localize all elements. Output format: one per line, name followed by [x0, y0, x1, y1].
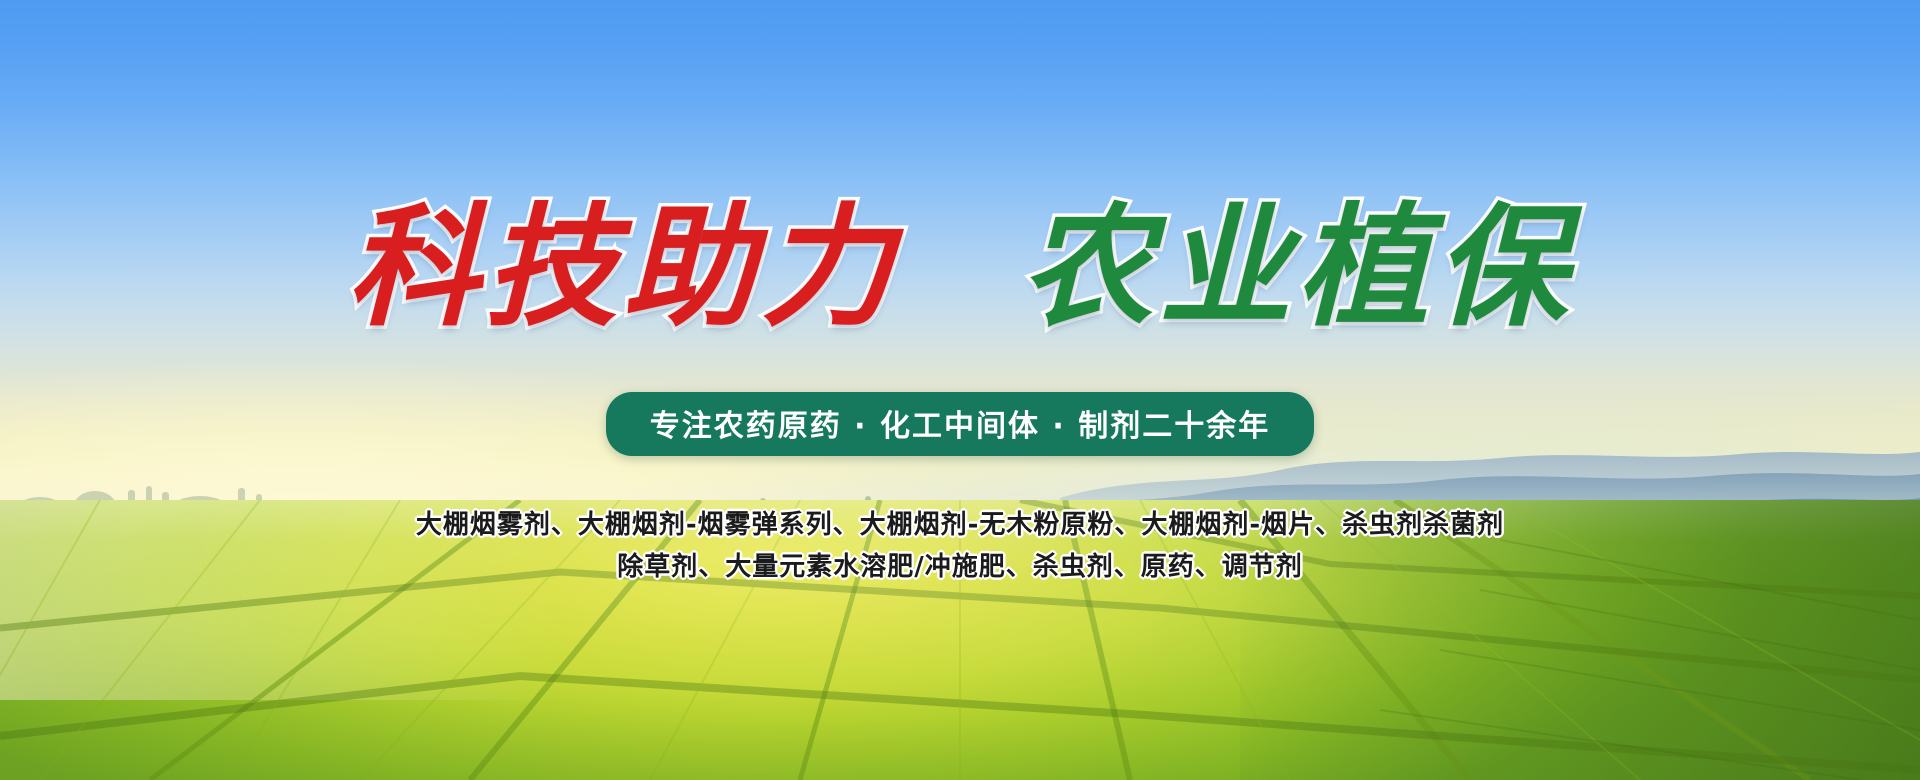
page-title: 科技助力 农业植保	[0, 185, 1920, 350]
product-list: 大棚烟雾剂、大棚烟剂-烟雾弹系列、大棚烟剂-无木粉原粉、大棚烟剂-烟片、杀虫剂杀…	[0, 504, 1920, 588]
headline-red-part: 科技助力	[347, 185, 899, 350]
hero-banner: 科技助力 农业植保 专注农药原药 · 化工中间体 · 制剂二十余年 大棚烟雾剂、…	[0, 0, 1920, 780]
product-line-2: 除草剂、大量元素水溶肥/冲施肥、杀虫剂、原药、调节剂	[0, 546, 1920, 588]
headline-green-part: 农业植保	[1021, 185, 1573, 350]
tagline-container: 专注农药原药 · 化工中间体 · 制剂二十余年	[0, 392, 1920, 456]
tagline-badge: 专注农药原药 · 化工中间体 · 制剂二十余年	[606, 392, 1315, 456]
product-line-1: 大棚烟雾剂、大棚烟剂-烟雾弹系列、大棚烟剂-无木粉原粉、大棚烟剂-烟片、杀虫剂杀…	[0, 504, 1920, 546]
